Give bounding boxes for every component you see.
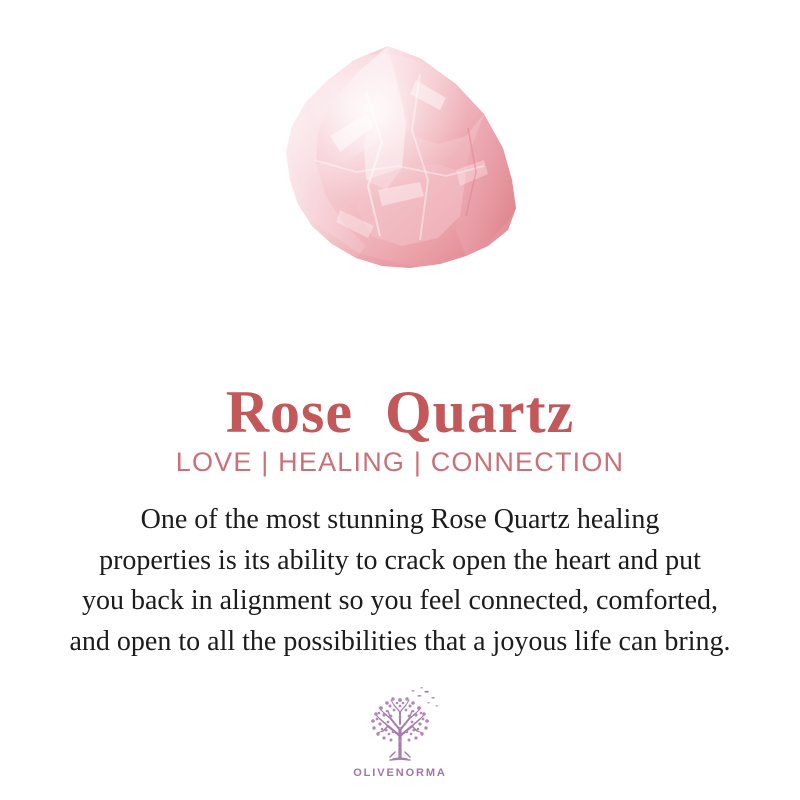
description-line: One of the most stunning Rose Quartz hea…: [20, 500, 780, 541]
description-line: and open to all the possibilities that a…: [20, 622, 780, 663]
product-image-container: [0, 40, 800, 290]
brand-wordmark: OLIVENORMA: [0, 767, 800, 779]
product-info-card: Rose Quartz LOVE | HEALING | CONNECTION …: [0, 0, 800, 800]
page-title: Rose Quartz: [0, 376, 800, 448]
rose-quartz-crystal-icon: [270, 40, 530, 286]
olivenorma-tree-logo-icon: [357, 686, 443, 766]
description-text: One of the most stunning Rose Quartz hea…: [20, 500, 780, 662]
description-line: you back in alignment so you feel connec…: [20, 581, 780, 622]
description-line: properties is its ability to crack open …: [20, 541, 780, 582]
logo-birds: [411, 687, 439, 706]
crystal-inner-glow: [290, 54, 474, 218]
brand-logo: OLIVENORMA: [0, 686, 800, 779]
keyword-subtitle: LOVE | HEALING | CONNECTION: [0, 444, 800, 480]
